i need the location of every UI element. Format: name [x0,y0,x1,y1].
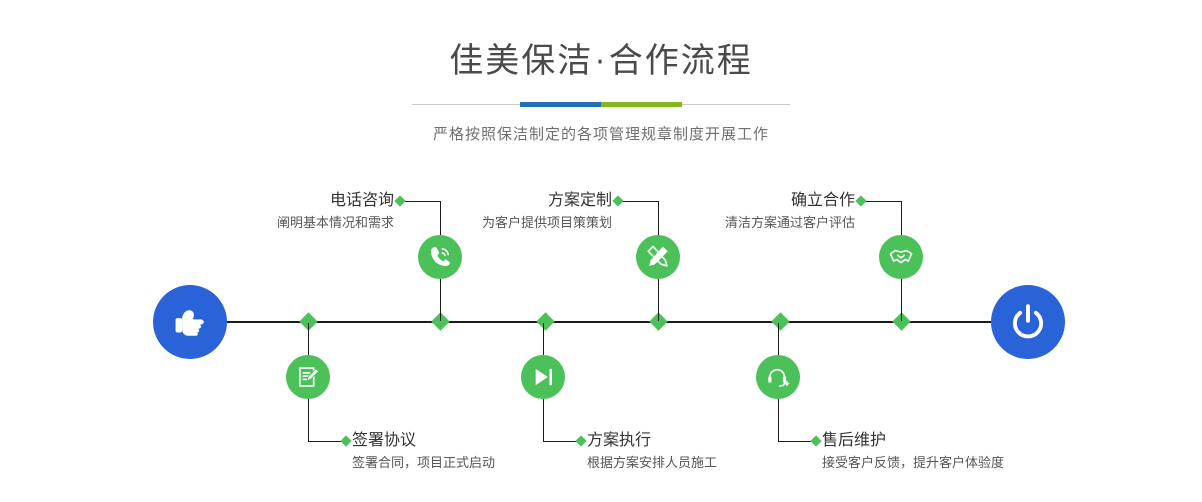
connector-vertical [778,323,779,355]
step-label-1: 电话咨询 阐明基本情况和需求 [140,190,394,233]
connector-vertical [901,201,902,235]
connector-vertical [440,279,441,321]
header: 佳美保洁·合作流程 严格按照保洁制定的各项管理规章制度开展工作 [0,0,1202,144]
step-icon-4[interactable] [521,355,565,399]
document-edit-icon [295,364,321,390]
pen-pencil-icon [645,244,671,270]
step-label-5: 确立合作 清洁方案通过客户评估 [601,190,855,233]
page-title: 佳美保洁·合作流程 [0,44,1202,78]
step-desc-3: 为客户提供项目策策划 [358,215,612,233]
play-execute-icon [530,364,556,390]
connector-vertical [543,323,544,355]
connector-vertical [778,399,779,441]
step-label-3: 方案定制 为客户提供项目策策划 [358,190,612,233]
connector-vertical [901,279,902,321]
power-button-icon [1007,301,1049,343]
headset-support-icon [765,364,791,390]
title-divider [412,100,790,110]
step-desc-2: 签署合同，项目正式启动 [352,455,612,473]
step-icon-3[interactable] [636,235,680,279]
step-title-3: 方案定制 [358,190,612,210]
end-endpoint[interactable] [991,285,1065,359]
step-desc-5: 清洁方案通过客户评估 [601,215,855,233]
start-endpoint[interactable] [153,285,227,359]
step-title-2: 签署协议 [352,430,612,450]
step-label-6: 售后维护 接受客户反馈，提升客户体验度 [822,430,1102,473]
step-icon-2[interactable] [286,355,330,399]
connector-diamond [855,195,866,206]
page-title-separator: · [593,45,609,80]
step-desc-4: 根据方案安排人员施工 [587,455,847,473]
timeline-node [536,312,554,330]
page-title-right: 合作流程 [609,41,753,81]
step-title-6: 售后维护 [822,430,1102,450]
step-icon-6[interactable] [756,355,800,399]
connector-vertical [543,399,544,441]
step-desc-1: 阐明基本情况和需求 [140,215,394,233]
connector-vertical [658,279,659,321]
step-desc-6: 接受客户反馈，提升客户体验度 [822,455,1102,473]
step-label-4: 方案执行 根据方案安排人员施工 [587,430,847,473]
divider-blue-segment [520,102,601,107]
divider-green-segment [601,102,682,107]
phone-call-icon [427,244,453,270]
step-icon-5[interactable] [879,235,923,279]
step-icon-1[interactable] [418,235,462,279]
handshake-icon [888,244,914,270]
page-subtitle: 严格按照保洁制定的各项管理规章制度开展工作 [0,123,1202,144]
page-title-left: 佳美保洁 [449,41,593,81]
connector-horizontal [863,201,901,202]
connector-vertical [308,399,309,441]
pointing-hand-icon [169,301,211,343]
step-title-4: 方案执行 [587,430,847,450]
step-label-2: 签署协议 签署合同，项目正式启动 [352,430,612,473]
timeline-node [771,312,789,330]
infographic-root: 佳美保洁·合作流程 严格按照保洁制定的各项管理规章制度开展工作 [0,0,1202,502]
step-title-5: 确立合作 [601,190,855,210]
step-title-1: 电话咨询 [140,190,394,210]
connector-vertical [308,323,309,355]
connector-diamond [340,435,351,446]
